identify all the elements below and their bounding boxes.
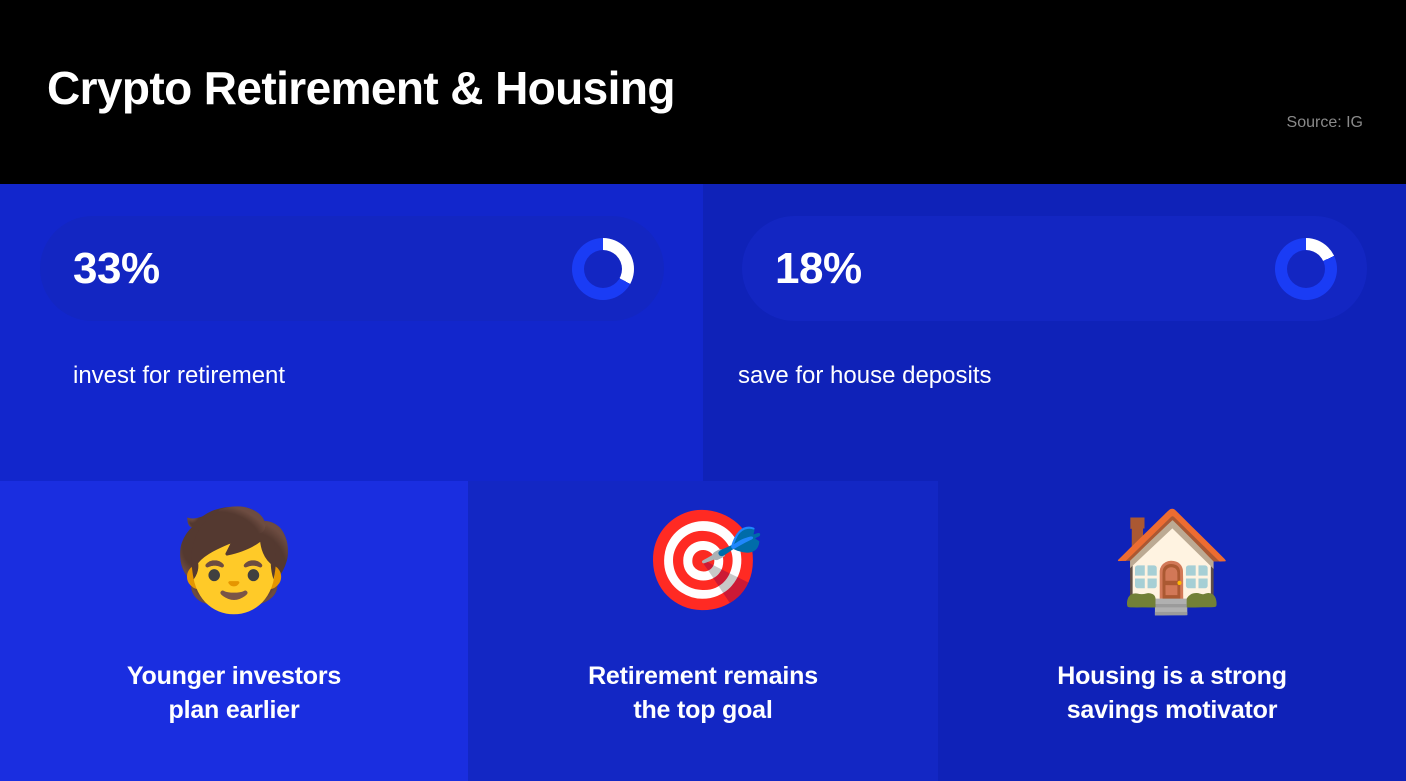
insight-panel-label: Retirement remains the top goal <box>588 659 818 727</box>
insight-panel-younger-investors: 🧒 Younger investors plan earlier <box>0 481 468 781</box>
insight-panel-retirement-top-goal: 🎯 Retirement remains the top goal <box>468 481 938 781</box>
stat-caption: invest for retirement <box>73 362 285 390</box>
insight-panels: 🧒 Younger investors plan earlier 🎯 Retir… <box>0 481 1406 781</box>
child-emoji: 🧒 <box>173 495 295 625</box>
stat-value: 33% <box>73 247 160 291</box>
donut-hole <box>584 250 622 288</box>
page-title: Crypto Retirement & Housing <box>47 63 675 114</box>
donut-hole <box>1287 250 1325 288</box>
page-header: Crypto Retirement & Housing Source: IG <box>0 0 1406 184</box>
stat-card-invest-for-retirement: 33% invest for retirement <box>0 184 703 481</box>
source-attribution: Source: IG <box>1287 114 1363 132</box>
insight-panel-housing-savings-motivator: 🏠 Housing is a strong savings motivator <box>938 481 1406 781</box>
stats-band: 33% invest for retirement 18% save for h… <box>0 184 1406 481</box>
stat-pill: 18% <box>742 216 1367 321</box>
stat-caption: save for house deposits <box>738 362 992 390</box>
stat-card-save-for-house-deposits: 18% save for house deposits <box>703 184 1406 481</box>
stat-pill: 33% <box>40 216 664 321</box>
dart-target-emoji: 🎯 <box>642 495 764 625</box>
donut-progress-icon <box>572 238 634 300</box>
house-emoji: 🏠 <box>1111 495 1233 625</box>
stat-value: 18% <box>775 247 862 291</box>
insight-panel-label: Younger investors plan earlier <box>127 659 341 727</box>
insight-panel-label: Housing is a strong savings motivator <box>1057 659 1287 727</box>
donut-progress-icon <box>1275 238 1337 300</box>
